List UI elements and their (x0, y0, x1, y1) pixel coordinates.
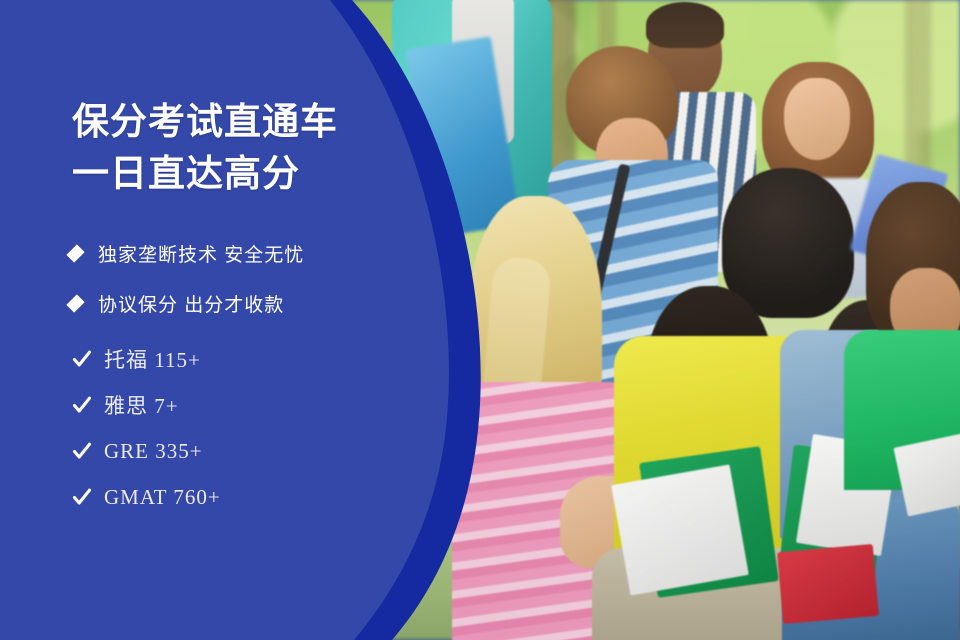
score-label: GRE 335+ (104, 439, 203, 464)
score-list: 托福 115+ 雅思 7+ GRE 335+ GMAT 760+ (72, 336, 221, 520)
feature-label: 独家垄断技术 安全无忧 (98, 240, 304, 267)
score-label: GMAT 760+ (104, 485, 221, 510)
check-icon (72, 395, 92, 415)
check-icon (72, 349, 92, 369)
score-label: 雅思 7+ (104, 390, 179, 420)
promo-banner: 保分考试直通车 一日直达高分 独家垄断技术 安全无忧 协议保分 出分才收款 托福… (0, 0, 960, 640)
score-item: GMAT 760+ (72, 474, 221, 520)
feature-item: 协议保分 出分才收款 (70, 278, 304, 328)
score-item: 托福 115+ (72, 336, 221, 382)
page-title: 保分考试直通车 一日直达高分 (72, 96, 338, 200)
feature-label: 协议保分 出分才收款 (98, 290, 284, 317)
score-item: GRE 335+ (72, 428, 221, 474)
score-label: 托福 115+ (104, 344, 201, 374)
banner-content: 保分考试直通车 一日直达高分 独家垄断技术 安全无忧 协议保分 出分才收款 托福… (0, 0, 420, 640)
diamond-bullet-icon (66, 294, 84, 312)
check-icon (72, 441, 92, 461)
feature-item: 独家垄断技术 安全无忧 (70, 228, 304, 278)
headline-line-2: 一日直达高分 (72, 148, 338, 200)
diamond-bullet-icon (66, 244, 84, 262)
check-icon (72, 487, 92, 507)
headline-line-1: 保分考试直通车 (72, 101, 338, 142)
score-item: 雅思 7+ (72, 382, 221, 428)
feature-list: 独家垄断技术 安全无忧 协议保分 出分才收款 (70, 228, 304, 328)
